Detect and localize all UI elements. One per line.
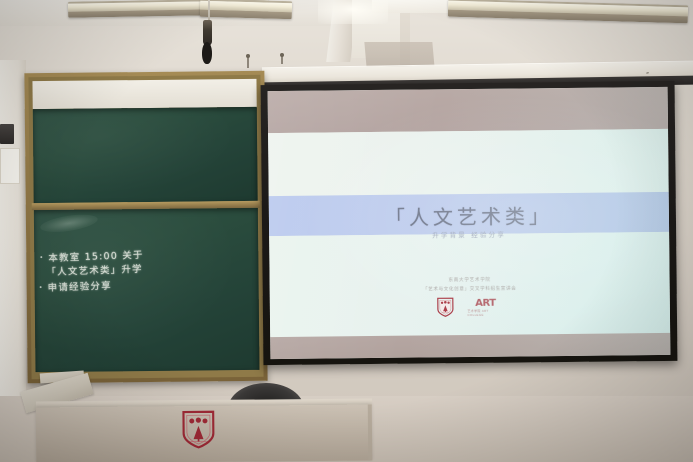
podium-right-edge	[368, 405, 372, 461]
chalk-erased-smudge	[39, 212, 99, 236]
chalk-bullet-1	[40, 256, 42, 258]
wall-notice-sheet	[0, 148, 20, 184]
chalk-note-line-2: 「人文艺术类」升学	[46, 261, 143, 278]
projection-screen-frame: 「人文艺术类」 升学背景 经验分享 东南大学艺术学院 「艺术与文化创意」交叉学科…	[261, 81, 678, 365]
housing-brand-label: ▰	[646, 70, 649, 75]
screen-pull-cord-tip[interactable]	[202, 42, 212, 64]
projection-screen-surface[interactable]: 「人文艺术类」 升学背景 经验分享 东南大学艺术学院 「艺术与文化创意」交叉学科…	[268, 87, 671, 359]
wall-speaker-box	[0, 124, 14, 144]
podium-university-crest	[182, 410, 215, 455]
lecture-podium[interactable]	[36, 405, 372, 462]
university-crest-logo	[436, 297, 453, 317]
art-wordmark-text: ART	[475, 299, 495, 309]
slide-band-upper-mint	[268, 129, 669, 196]
housing-hook-right	[281, 55, 283, 64]
chalk-bullet-2	[40, 286, 42, 288]
ceiling-light-center[interactable]	[200, 0, 292, 19]
slide-logo-row: ART 艺术学院 ART COLLEGE	[270, 295, 670, 319]
blackboard-top-track	[32, 79, 256, 109]
blackboard-frame: 本教室 15:00 关于 「人文艺术类」升学 申请经验分享	[24, 71, 267, 383]
blackboard-panel-lower[interactable]: 本教室 15:00 关于 「人文艺术类」升学 申请经验分享	[34, 208, 260, 372]
screen-pull-cord-line[interactable]	[208, 0, 210, 22]
slide-band-top-taupe	[268, 87, 668, 133]
art-wordmark-subtext: 艺术学院 ART COLLEGE	[467, 309, 503, 317]
left-wall-strip	[0, 60, 26, 400]
blackboard-panel-upper[interactable]	[33, 107, 258, 203]
classroom-scene: ▰ 本教室 15:00 关于 「人文艺术类」升学 申请经验分享	[0, 0, 693, 462]
chalk-note-line-3: 申请经验分享	[47, 278, 112, 294]
housing-hook-left	[247, 56, 249, 68]
slide-band-bottom-taupe	[270, 333, 670, 359]
art-wordmark-logo: ART 艺术学院 ART COLLEGE	[467, 299, 503, 315]
